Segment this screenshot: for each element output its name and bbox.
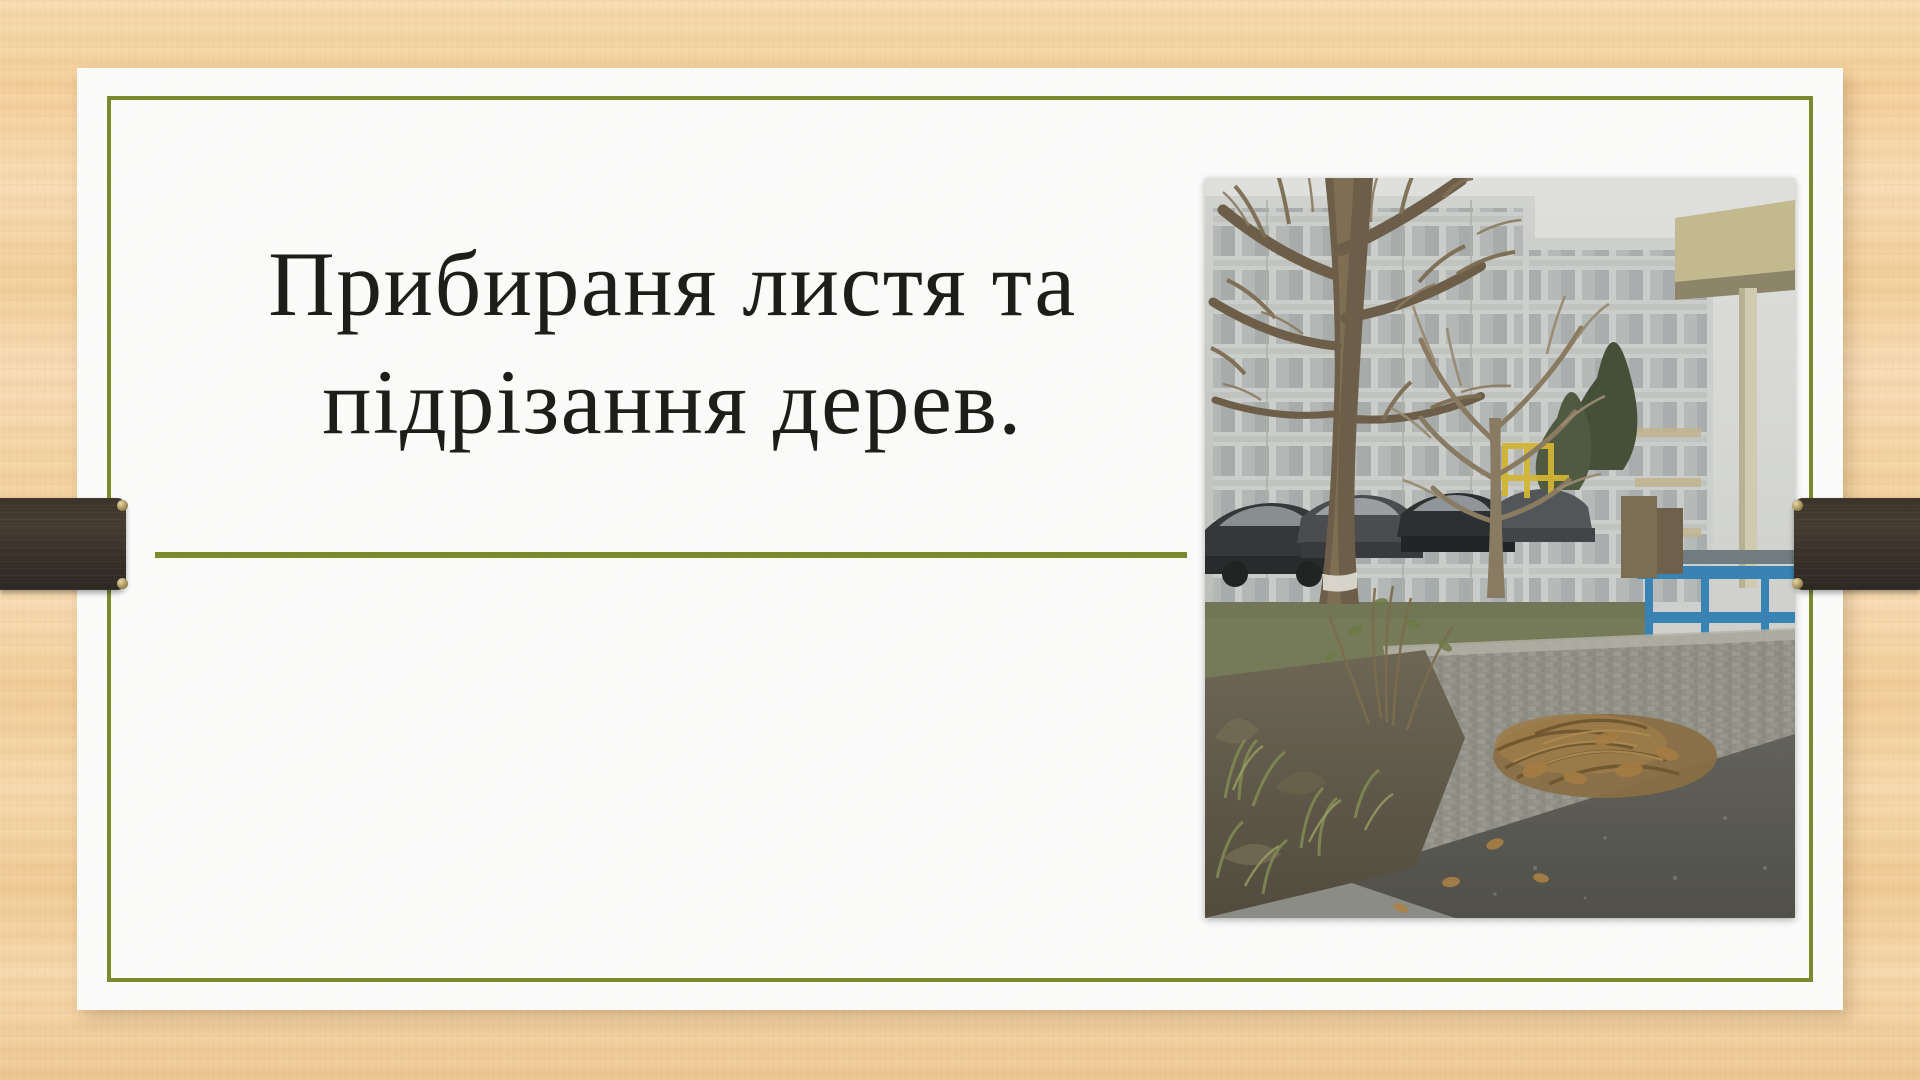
rivet-icon	[1792, 500, 1803, 511]
title-line-1: Прибираня листя та	[155, 225, 1190, 343]
slide-photo	[1205, 178, 1795, 918]
olive-horizontal-rule	[155, 552, 1187, 558]
title-line-2: підрізання дерев.	[155, 343, 1190, 461]
rivet-icon	[117, 500, 128, 511]
photo-illustration	[1205, 178, 1795, 918]
rivet-icon	[1792, 578, 1803, 589]
slide-title: Прибираня листя та підрізання дерев.	[155, 225, 1190, 461]
left-edge-tab	[0, 498, 126, 590]
right-edge-tab	[1794, 498, 1920, 590]
rivet-icon	[117, 578, 128, 589]
